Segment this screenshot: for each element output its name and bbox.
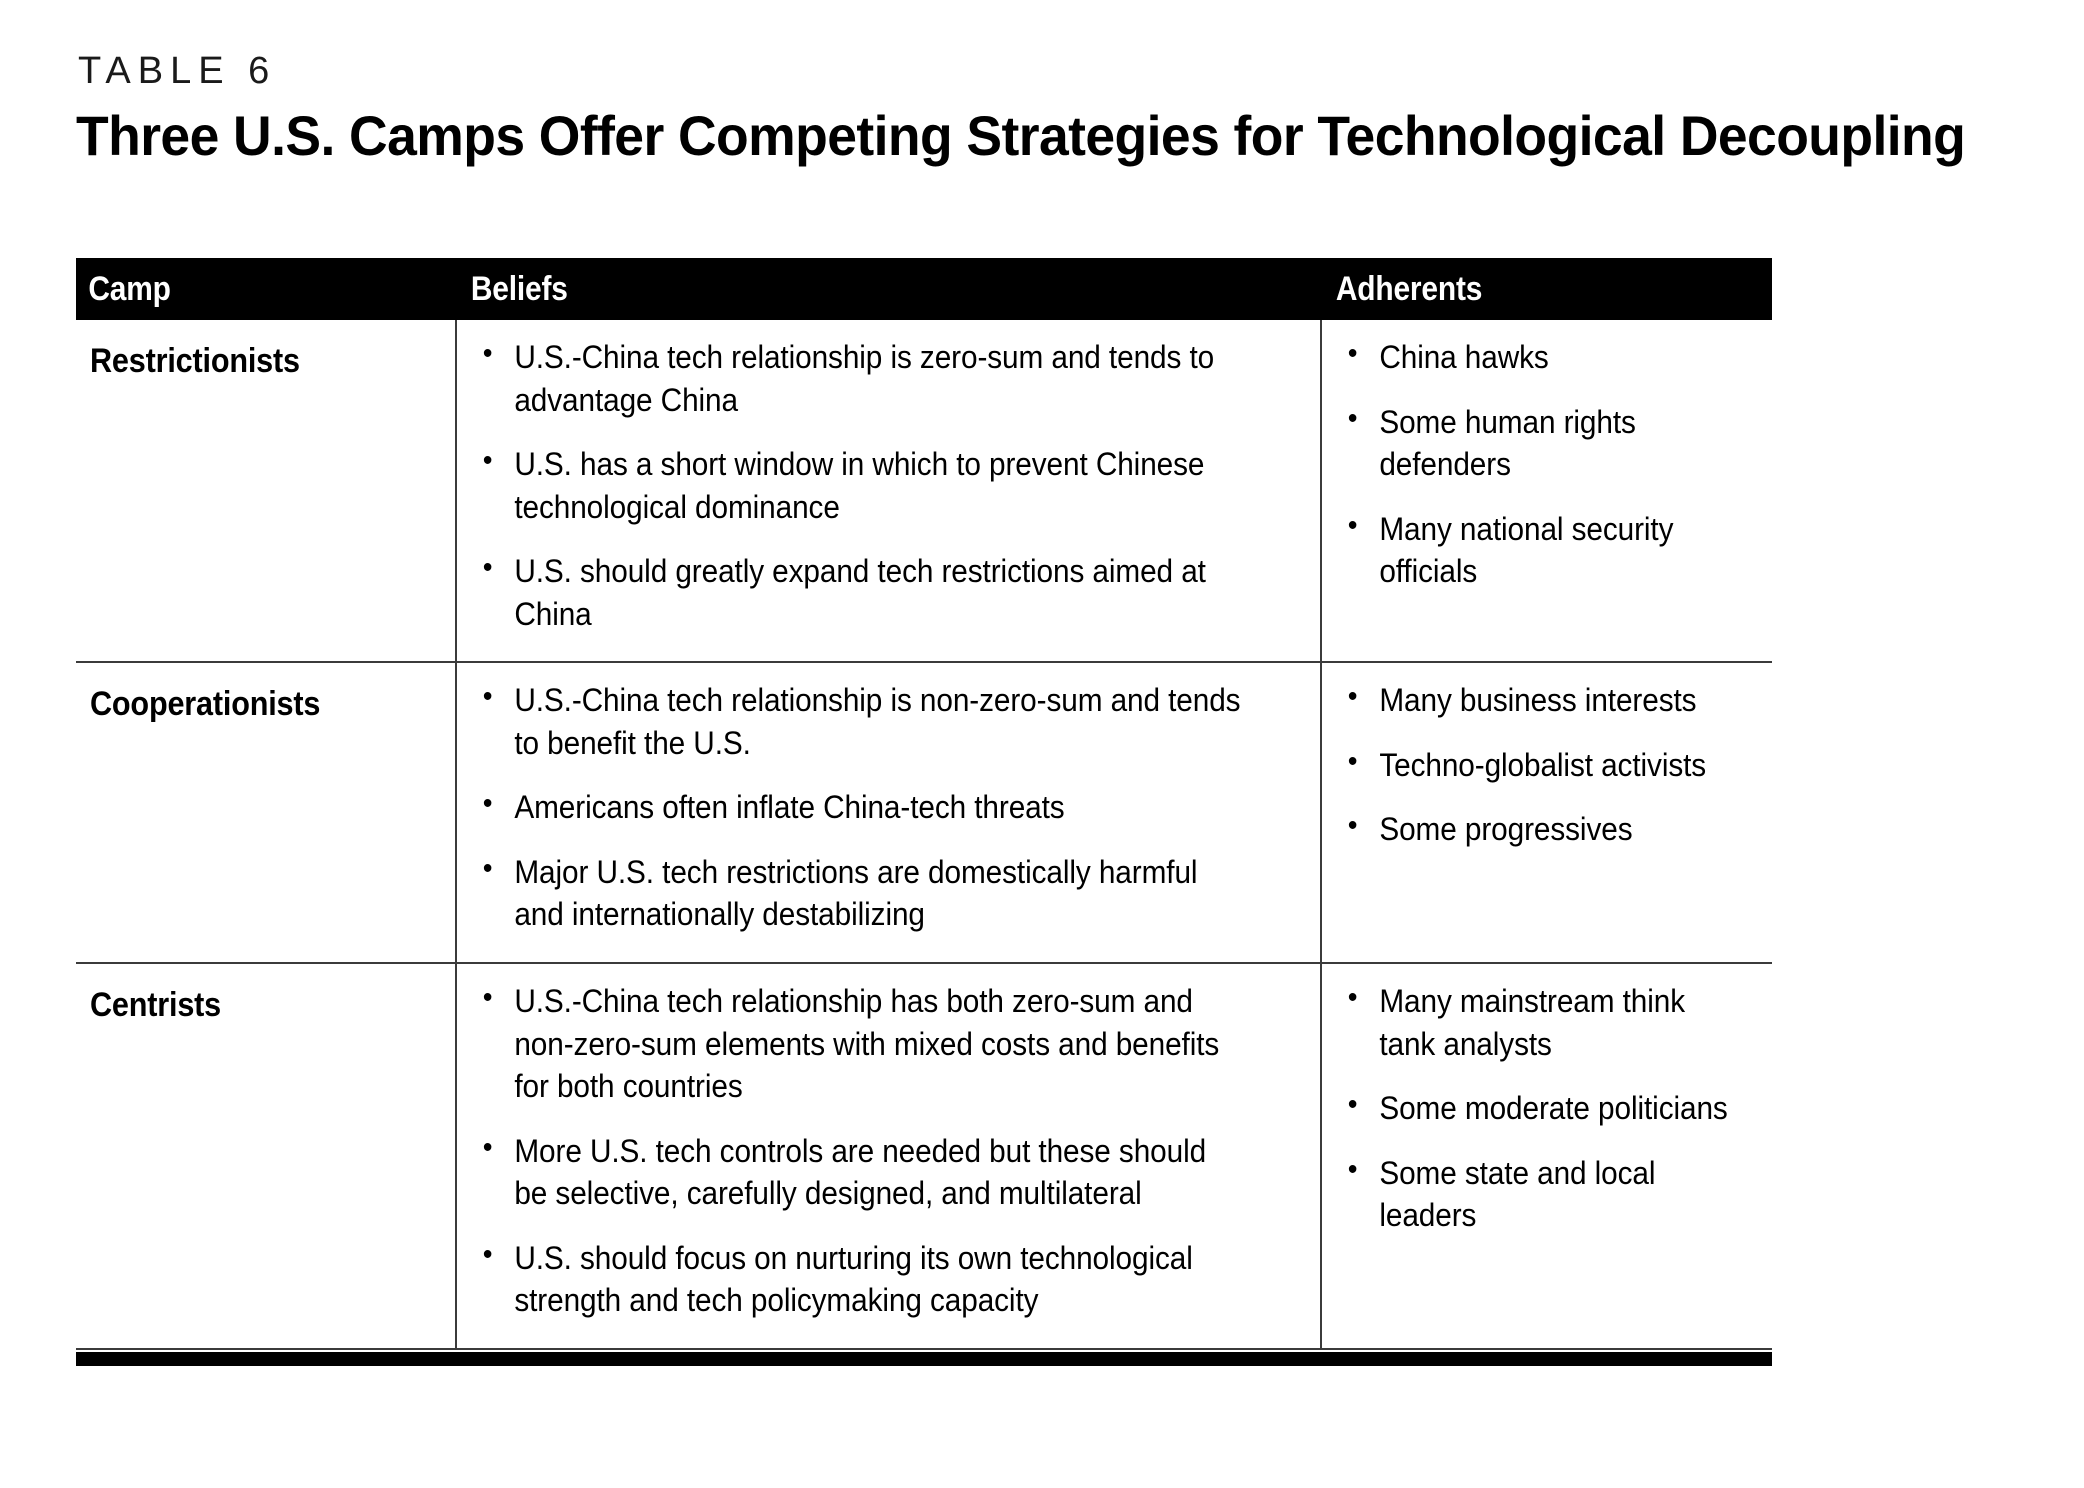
table-row: Centrists U.S.-China tech relationship h… bbox=[76, 964, 1772, 1350]
table-title: Three U.S. Camps Offer Competing Strateg… bbox=[76, 106, 1965, 165]
list-item: U.S.-China tech relationship is zero-sum… bbox=[479, 336, 1241, 421]
table-figure: TABLE 6 Three U.S. Camps Offer Competing… bbox=[0, 0, 2084, 1488]
list-item: Some state and local leaders bbox=[1344, 1152, 1735, 1237]
beliefs-list: U.S.-China tech relationship is zero-sum… bbox=[479, 336, 1298, 635]
camp-cell: Cooperationists bbox=[76, 663, 455, 962]
table-number-label: TABLE 6 bbox=[78, 52, 276, 90]
list-item: U.S.-China tech relationship has both ze… bbox=[479, 980, 1241, 1108]
adherents-cell: China hawks Some human rights defenders … bbox=[1320, 320, 1772, 661]
camp-cell: Centrists bbox=[76, 964, 455, 1348]
data-table: Camp Beliefs Adherents Restrictionists U… bbox=[76, 258, 1772, 1366]
list-item: U.S. has a short window in which to prev… bbox=[479, 443, 1241, 528]
list-item: More U.S. tech controls are needed but t… bbox=[479, 1130, 1241, 1215]
list-item: Major U.S. tech restrictions are domesti… bbox=[479, 851, 1241, 936]
adherents-list: China hawks Some human rights defenders … bbox=[1344, 336, 1764, 593]
adherents-cell: Many business interests Techno-globalist… bbox=[1320, 663, 1772, 962]
list-item: Some moderate politicians bbox=[1344, 1087, 1735, 1130]
beliefs-cell: U.S.-China tech relationship is zero-sum… bbox=[455, 320, 1320, 661]
list-item: Many national security officials bbox=[1344, 508, 1735, 593]
list-item: Americans often inflate China-tech threa… bbox=[479, 786, 1241, 829]
camp-cell: Restrictionists bbox=[76, 320, 455, 661]
camp-name: Centrists bbox=[90, 986, 410, 1025]
adherents-cell: Many mainstream think tank analysts Some… bbox=[1320, 964, 1772, 1348]
beliefs-cell: U.S.-China tech relationship is non-zero… bbox=[455, 663, 1320, 962]
beliefs-cell: U.S.-China tech relationship has both ze… bbox=[455, 964, 1320, 1348]
beliefs-list: U.S.-China tech relationship is non-zero… bbox=[479, 679, 1298, 936]
list-item: Techno-globalist activists bbox=[1344, 744, 1735, 787]
list-item: Many business interests bbox=[1344, 679, 1735, 722]
list-item: U.S. should focus on nurturing its own t… bbox=[479, 1237, 1241, 1322]
column-header-adherents: Adherents bbox=[1320, 270, 1718, 309]
beliefs-list: U.S.-China tech relationship has both ze… bbox=[479, 980, 1298, 1322]
list-item: U.S. should greatly expand tech restrict… bbox=[479, 550, 1241, 635]
adherents-list: Many business interests Techno-globalist… bbox=[1344, 679, 1764, 851]
list-item: Many mainstream think tank analysts bbox=[1344, 980, 1735, 1065]
table-row: Restrictionists U.S.-China tech relation… bbox=[76, 320, 1772, 663]
table-row: Cooperationists U.S.-China tech relation… bbox=[76, 663, 1772, 964]
list-item: China hawks bbox=[1344, 336, 1735, 379]
camp-name: Cooperationists bbox=[90, 685, 410, 724]
table-header-row: Camp Beliefs Adherents bbox=[76, 258, 1772, 320]
list-item: Some progressives bbox=[1344, 808, 1735, 851]
table-bottom-rule bbox=[76, 1352, 1772, 1366]
column-header-beliefs: Beliefs bbox=[455, 270, 1216, 309]
list-item: Some human rights defenders bbox=[1344, 401, 1735, 486]
list-item: U.S.-China tech relationship is non-zero… bbox=[479, 679, 1241, 764]
column-header-camp: Camp bbox=[76, 270, 410, 309]
adherents-list: Many mainstream think tank analysts Some… bbox=[1344, 980, 1764, 1237]
camp-name: Restrictionists bbox=[90, 342, 410, 381]
